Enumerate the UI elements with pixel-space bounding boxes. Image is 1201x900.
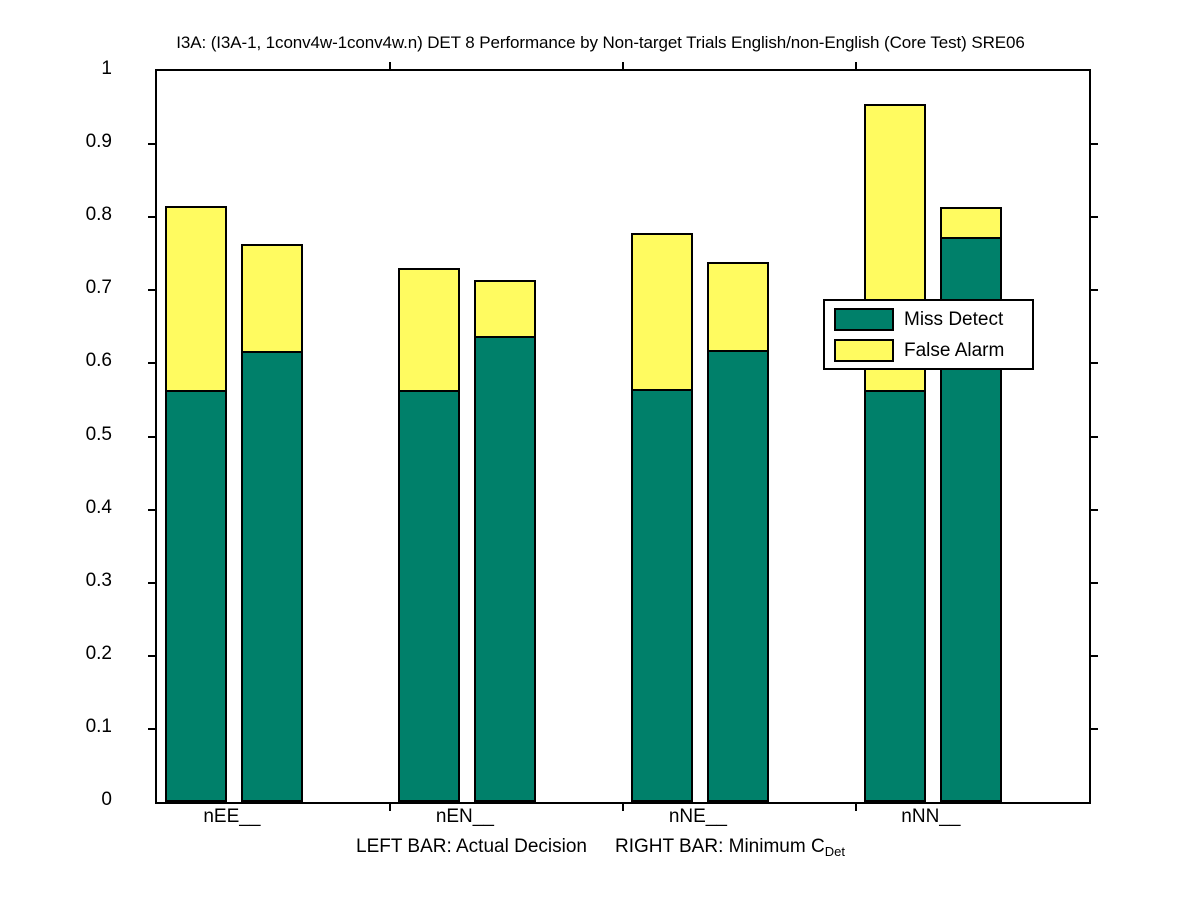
x-axis-tick (622, 62, 624, 71)
y-axis-tick-label: 0.2 (0, 644, 112, 663)
bar-segment-false-alarm[interactable] (398, 268, 460, 392)
bar-order-caption: LEFT BAR: Actual DecisionRIGHT BAR: Mini… (0, 836, 1201, 863)
y-axis-tick-label: 0.4 (0, 498, 112, 517)
x-axis-tick (389, 62, 391, 71)
y-axis-tick-label: 0.7 (0, 278, 112, 297)
figure-canvas: I3A: (I3A-1, 1conv4w-1conv4w.n) DET 8 Pe… (0, 0, 1201, 900)
y-axis-tick (1089, 582, 1098, 584)
bar-segment-false-alarm[interactable] (474, 280, 536, 338)
y-axis-tick (1089, 216, 1098, 218)
y-axis-tick (148, 436, 157, 438)
x-axis-tick-label: nEN__ (365, 806, 565, 828)
y-axis-tick-label: 0 (0, 790, 112, 809)
bar-segment-miss-detect[interactable] (165, 390, 227, 802)
x-axis-tick-label: nNN__ (831, 806, 1031, 828)
bar-segment-false-alarm[interactable] (707, 262, 769, 352)
plot-area (155, 69, 1091, 804)
y-axis-tick-label: 0.3 (0, 571, 112, 590)
bar-segment-miss-detect[interactable] (631, 389, 693, 802)
chart-title: I3A: (I3A-1, 1conv4w-1conv4w.n) DET 8 Pe… (0, 33, 1201, 53)
legend-item-false-alarm[interactable]: False Alarm (834, 338, 1004, 363)
y-axis-tick-label: 0.5 (0, 425, 112, 444)
caption-right-bar-subscript: Det (825, 844, 845, 859)
y-axis-tick (1089, 728, 1098, 730)
y-axis-tick (1089, 362, 1098, 364)
bar-segment-miss-detect[interactable] (241, 351, 303, 802)
y-axis-tick (148, 509, 157, 511)
bar-segment-false-alarm[interactable] (241, 244, 303, 353)
y-axis-tick-label: 0.1 (0, 717, 112, 736)
y-axis-tick-label: 0.9 (0, 132, 112, 151)
y-axis-tick-label: 0.8 (0, 205, 112, 224)
y-axis-tick (1089, 509, 1098, 511)
legend-swatch-false-alarm (834, 339, 894, 362)
bar-segment-false-alarm[interactable] (940, 207, 1002, 239)
y-axis-tick (1089, 436, 1098, 438)
bar-segment-miss-detect[interactable] (707, 350, 769, 802)
y-axis-tick (148, 655, 157, 657)
chart-legend[interactable]: Miss Detect False Alarm (823, 299, 1034, 370)
y-axis-tick (148, 582, 157, 584)
legend-label-miss-detect: Miss Detect (904, 310, 1003, 329)
bar-segment-miss-detect[interactable] (398, 390, 460, 802)
bar-segment-miss-detect[interactable] (474, 336, 536, 802)
y-axis-tick (1089, 289, 1098, 291)
bar-segment-miss-detect[interactable] (864, 390, 926, 802)
caption-right-bar-text: RIGHT BAR: Minimum C (615, 836, 825, 857)
bar-segment-false-alarm[interactable] (631, 233, 693, 391)
x-axis-tick-label: nNE__ (598, 806, 798, 828)
bar-segment-false-alarm[interactable] (165, 206, 227, 392)
y-axis-tick (148, 362, 157, 364)
y-axis-tick (148, 143, 157, 145)
legend-swatch-miss-detect (834, 308, 894, 331)
legend-item-miss-detect[interactable]: Miss Detect (834, 307, 1003, 332)
y-axis-tick (148, 216, 157, 218)
x-axis-tick (855, 62, 857, 71)
y-axis-tick (1089, 655, 1098, 657)
y-axis-tick (148, 289, 157, 291)
x-axis-tick-label: nEE__ (132, 806, 332, 828)
y-axis-tick-label: 1 (0, 59, 112, 78)
y-axis-tick-label: 0.6 (0, 351, 112, 370)
caption-right-bar: RIGHT BAR: Minimum CDet (615, 836, 845, 863)
plot-inner (157, 71, 1089, 802)
y-axis-tick (1089, 143, 1098, 145)
caption-left-bar: LEFT BAR: Actual Decision (356, 836, 587, 858)
legend-label-false-alarm: False Alarm (904, 341, 1004, 360)
y-axis-tick (148, 728, 157, 730)
